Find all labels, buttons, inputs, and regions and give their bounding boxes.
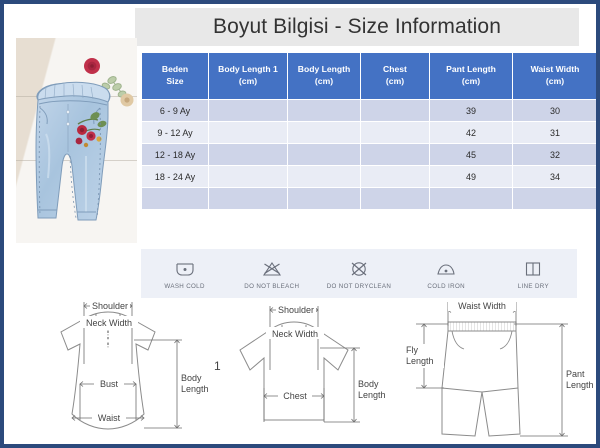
- label-neck-width: Neck Width: [86, 318, 132, 328]
- table-row: 12 - 18 Ay 45 32: [142, 144, 597, 165]
- label-shoulder: Shoulder: [92, 301, 128, 311]
- pants-measurement-diagram: Waist Width Fly Length Pant Length: [402, 292, 598, 448]
- cell-chest: [361, 188, 429, 209]
- cell-body-length: [288, 188, 360, 209]
- cell-body-length: [288, 122, 360, 143]
- dress-measurement-diagram: Shoulder Neck Width Bust Waist Body Leng…: [22, 292, 214, 448]
- cell-waist-width: 34: [513, 166, 597, 187]
- label-waist: Waist: [98, 413, 121, 423]
- label-pant-length-2: Length: [566, 380, 594, 390]
- cell-body-length: [288, 100, 360, 121]
- cell-chest: [361, 144, 429, 165]
- cell-body-length: [288, 166, 360, 187]
- column-header-chest: Chest (cm): [361, 53, 429, 99]
- table-row: [142, 188, 597, 209]
- care-item-wash-cold: WASH COLD: [143, 258, 227, 290]
- care-instructions-strip: WASH COLD DO NOT BLEACH DO NOT DRYCL: [141, 249, 577, 298]
- product-photo: [16, 38, 137, 243]
- jeans-illustration: [16, 38, 137, 243]
- cell-size: [142, 188, 208, 209]
- label-fly-length: Fly: [406, 345, 418, 355]
- label-waist-width: Waist Width: [458, 301, 506, 311]
- table-row: 9 - 12 Ay 42 31: [142, 122, 597, 143]
- care-label: LINE DRY: [518, 283, 549, 290]
- size-information-card: Boyut Bilgisi - Size Information: [0, 0, 600, 448]
- column-header-body-length-1: Body Length 1 (cm): [209, 53, 287, 99]
- column-header-beden-size: Beden Size: [142, 53, 208, 99]
- column-header-waist-width: Waist Width (cm): [513, 53, 597, 99]
- cell-body-length: [288, 144, 360, 165]
- care-label: DO NOT DRYCLEAN: [327, 283, 392, 290]
- line-dry-icon: [522, 258, 544, 280]
- label-body-length-2: Length: [181, 384, 209, 394]
- top-measurement-diagram: Shoulder Neck Width Chest Body Length 1: [208, 292, 404, 448]
- column-header-pant-length: Pant Length (cm): [430, 53, 512, 99]
- care-label: WASH COLD: [164, 283, 204, 290]
- cell-waist-width: 32: [513, 144, 597, 165]
- label-chest: Chest: [283, 391, 307, 401]
- do-not-dryclean-icon: [348, 258, 370, 280]
- cell-size: 18 - 24 Ay: [142, 166, 208, 187]
- cell-pant-length: 45: [430, 144, 512, 165]
- label-fly-length-2: Length: [406, 356, 434, 366]
- table-header-row: Beden Size Body Length 1 (cm) Body Lengt…: [142, 53, 597, 99]
- wash-cold-icon: [174, 258, 196, 280]
- cell-waist-width: [513, 188, 597, 209]
- diagram-index: 1: [214, 359, 221, 373]
- cell-size: 12 - 18 Ay: [142, 144, 208, 165]
- care-label: DO NOT BLEACH: [244, 283, 299, 290]
- cell-size: 6 - 9 Ay: [142, 100, 208, 121]
- care-item-cold-iron: COLD IRON: [404, 258, 488, 290]
- cell-body-length-1: [209, 144, 287, 165]
- label-body-length: Body: [181, 373, 202, 383]
- cell-waist-width: 30: [513, 100, 597, 121]
- care-item-do-not-dryclean: DO NOT DRYCLEAN: [317, 258, 401, 290]
- cell-body-length-1: [209, 166, 287, 187]
- cell-size: 9 - 12 Ay: [142, 122, 208, 143]
- cell-chest: [361, 122, 429, 143]
- cell-chest: [361, 100, 429, 121]
- cell-pant-length: [430, 188, 512, 209]
- label-neck-width: Neck Width: [272, 329, 318, 339]
- cell-pant-length: 42: [430, 122, 512, 143]
- page-title-bar: Boyut Bilgisi - Size Information: [135, 8, 579, 46]
- care-item-line-dry: LINE DRY: [491, 258, 575, 290]
- cell-pant-length: 49: [430, 166, 512, 187]
- measurement-diagrams: Shoulder Neck Width Bust Waist Body Leng…: [8, 292, 600, 448]
- label-pant-length: Pant: [566, 369, 585, 379]
- cell-chest: [361, 166, 429, 187]
- label-body-length: Body: [358, 379, 379, 389]
- label-bust: Bust: [100, 379, 119, 389]
- care-label: COLD IRON: [427, 283, 465, 290]
- cold-iron-icon: [435, 258, 457, 280]
- size-table: Beden Size Body Length 1 (cm) Body Lengt…: [141, 52, 598, 210]
- label-shoulder: Shoulder: [278, 305, 314, 315]
- table-row: 18 - 24 Ay 49 34: [142, 166, 597, 187]
- page-title: Boyut Bilgisi - Size Information: [213, 15, 501, 39]
- cell-body-length-1: [209, 188, 287, 209]
- cell-waist-width: 31: [513, 122, 597, 143]
- label-body-length-2: Length: [358, 390, 386, 400]
- cell-body-length-1: [209, 100, 287, 121]
- care-item-do-not-bleach: DO NOT BLEACH: [230, 258, 314, 290]
- cell-body-length-1: [209, 122, 287, 143]
- do-not-bleach-icon: [261, 258, 283, 280]
- table-row: 6 - 9 Ay 39 30: [142, 100, 597, 121]
- column-header-body-length: Body Length (cm): [288, 53, 360, 99]
- cell-pant-length: 39: [430, 100, 512, 121]
